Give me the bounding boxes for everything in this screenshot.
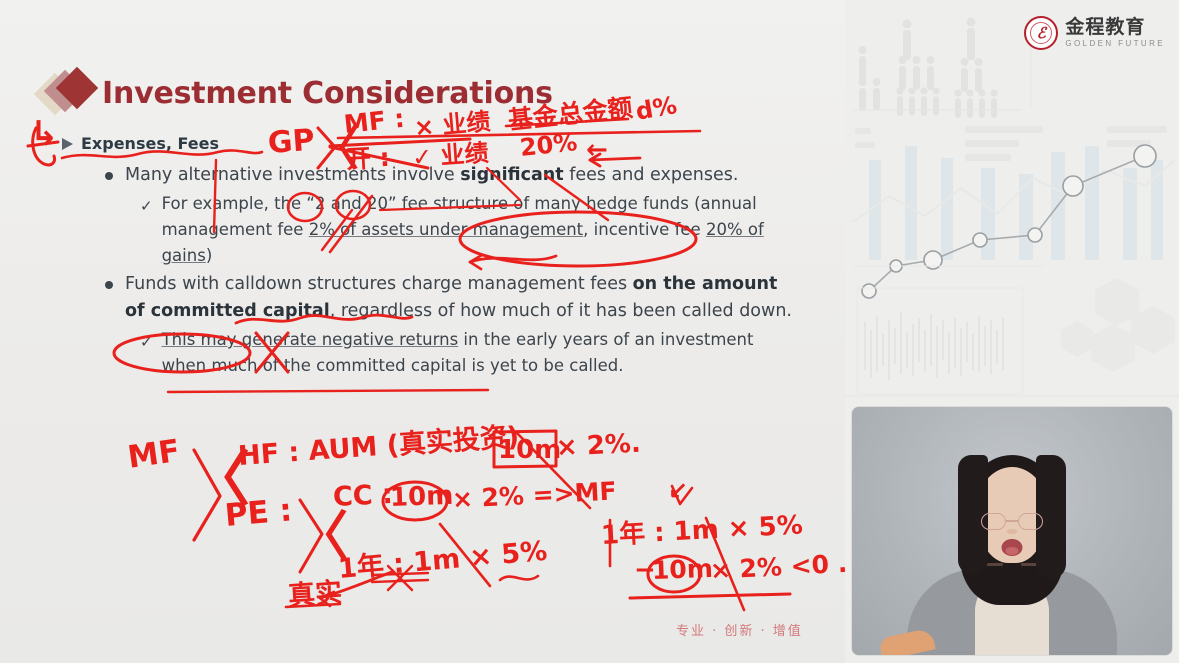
mouth [1002, 539, 1023, 556]
arrow-bullet-icon [62, 138, 73, 150]
annotation-pct-top: d% [634, 91, 679, 126]
annotation-mf-tree-bracket: 〈 [190, 431, 250, 518]
slide-subheading: Expenses, Fees [62, 134, 219, 153]
bullet-item: Funds with calldown structures charge ma… [105, 271, 825, 325]
annotation-year1-left: 1年 : 1m × 5% [336, 529, 548, 586]
bullet-text-run: Funds with calldown structures charge ma… [125, 274, 633, 294]
decorative-analytics-background [845, 0, 1179, 400]
glasses-icon [981, 513, 1043, 530]
bullet-text: For example, the “2 and 20” fee structur… [162, 191, 802, 269]
check-mark-icon: ✓ [140, 193, 153, 219]
annotation-tick-right: ↙ [668, 477, 688, 505]
bullet-dot-icon [105, 281, 113, 289]
brand-seal-letter: ℰ [1037, 24, 1046, 42]
bullet-text-run: ) [206, 246, 212, 265]
brand-name-en: GOLDEN FUTURE [1065, 40, 1165, 48]
annotation-hf-amount-box: 10m [498, 435, 561, 465]
annotation-mf-tree-label: MF [125, 433, 182, 476]
annotation-pct-twenty: 20% [519, 128, 579, 162]
bullet-text-run: , incentive fee [583, 220, 706, 239]
annotation-real-invest: 真实 [287, 571, 344, 614]
annotation-pe-label: PE : [223, 492, 293, 534]
bullet-dot-icon [105, 172, 113, 180]
annotation-pe-bracket: 〈 [296, 494, 348, 569]
annotation-hf-line: HF : AUM (真实投资) [237, 415, 521, 474]
instructor-video-feed[interactable] [852, 407, 1172, 655]
page-title: Investment Considerations [102, 76, 553, 111]
bullet-item: Many alternative investments involve sig… [105, 162, 825, 189]
slide-canvas: Investment Considerations Expenses, Fees… [0, 0, 845, 663]
annotation-arrow-left-top: ← [586, 135, 608, 165]
bullet-text: This may generate negative returns in th… [162, 327, 802, 379]
bullet-text-run: , regardless of how much of it has been … [330, 301, 792, 321]
annotation-year1-right: 1年 : 1m × 5% [600, 505, 803, 553]
bullet-item: ✓For example, the “2 and 20” fee structu… [140, 191, 825, 269]
slide-title-row: Investment Considerations [38, 70, 553, 116]
annotation-minus-line: − [634, 555, 656, 585]
annotation-minus-amount: 10m [651, 554, 713, 585]
bullet-text-run: significant [460, 165, 563, 185]
brand-name-cn: 金程教育 [1065, 18, 1165, 37]
annotation-left-hook-title: ↳ [30, 114, 59, 154]
subheading-label: Expenses, Fees [81, 134, 219, 153]
check-mark-icon: ✓ [140, 329, 153, 355]
brand-seal-icon: ℰ [1024, 16, 1058, 50]
bullet-text-run: 2% of assets under management [309, 220, 583, 239]
bullet-text-run: This may generate negative returns [162, 330, 459, 349]
annotation-minus-rate: × 2% <0 . [709, 549, 848, 585]
bullet-item: ✓This may generate negative returns in t… [140, 327, 825, 379]
footer-slogan: 专业 · 创新 · 增值 [676, 620, 803, 639]
diamond-decoration-icon [38, 70, 102, 116]
bullet-text: Funds with calldown structures charge ma… [125, 271, 795, 325]
bullet-text: Many alternative investments involve sig… [125, 162, 738, 189]
bullet-text-run: Many alternative investments involve [125, 165, 460, 185]
annotation-cc-line: CC : [332, 479, 393, 513]
annotation-hf-times: × 2%. [555, 429, 641, 463]
annotation-cc-rate: × 2% =>MF [451, 476, 617, 514]
slide-body: Many alternative investments involve sig… [105, 162, 825, 381]
annotation-cc-amount: 10m [389, 481, 453, 513]
bullet-text-run: fees and expenses. [564, 165, 739, 185]
nose [1007, 529, 1018, 534]
brand-logo: ℰ 金程教育 GOLDEN FUTURE [1024, 16, 1165, 50]
annotation-gp-label: GP [267, 122, 316, 160]
lecture-screen: Investment Considerations Expenses, Fees… [0, 0, 1179, 663]
